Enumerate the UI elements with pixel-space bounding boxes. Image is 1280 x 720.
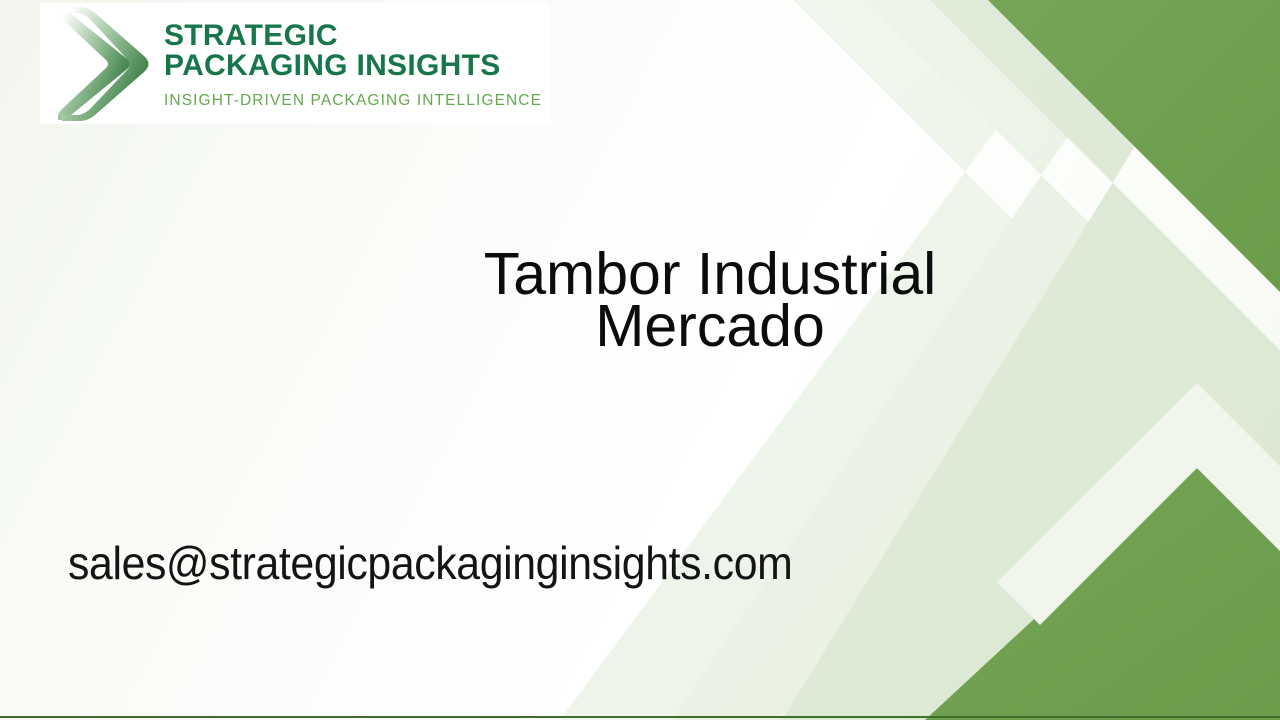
logo-tagline: INSIGHT-DRIVEN PACKAGING INTELLIGENCE	[164, 93, 550, 109]
contact-email-block: sales@strategicpackaginginsights.com	[68, 534, 968, 592]
slide-title-line-2: Mercado	[330, 300, 1090, 352]
company-logo: STRATEGIC PACKAGING INSIGHTS INSIGHT-DRI…	[40, 3, 550, 124]
chevron-arrow-icon	[40, 3, 158, 124]
slide-canvas: STRATEGIC PACKAGING INSIGHTS INSIGHT-DRI…	[0, 0, 1280, 720]
logo-wordmark: STRATEGIC PACKAGING INSIGHTS INSIGHT-DRI…	[158, 3, 550, 124]
chevron-arrow-path	[58, 9, 130, 120]
logo-line-2: PACKAGING INSIGHTS	[164, 51, 550, 81]
logo-line-1: STRATEGIC	[164, 21, 550, 51]
slide-title: Tambor Industrial Mercado	[330, 248, 1090, 352]
bottom-rule-divider	[0, 716, 1280, 718]
contact-email-address[interactable]: sales@strategicpackaginginsights.com	[68, 534, 905, 592]
